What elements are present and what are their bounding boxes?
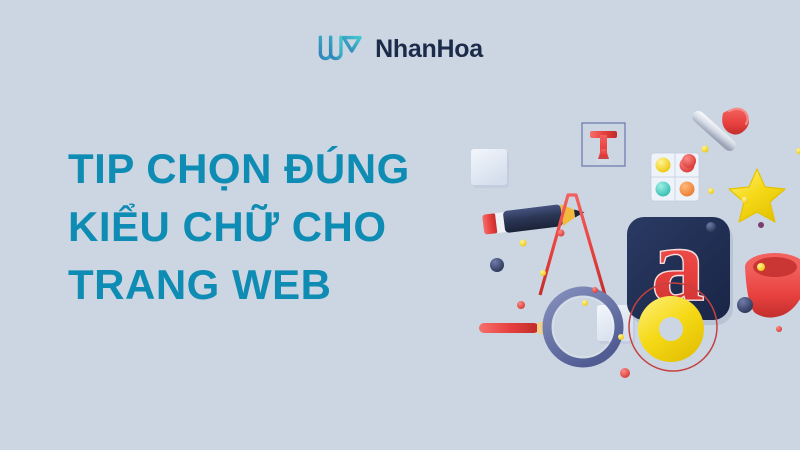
donut-icon [629,283,717,371]
promo-banner: NhanHoa TIP CHỌN ĐÚNG KIỂU CHỮ CHO TRANG… [0,0,800,450]
pencil-icon [482,201,586,235]
brand-header: NhanHoa [0,33,800,66]
eyedropper-icon [682,108,749,168]
headline-line-3: TRANG WEB [68,256,488,314]
card-square-icon [471,149,509,188]
cup-icon [745,253,800,318]
headline-line-1: TIP CHỌN ĐÚNG [68,140,488,198]
page-title: TIP CHỌN ĐÚNG KIỂU CHỮ CHO TRANG WEB [68,140,488,314]
headline-line-2: KIỂU CHỮ CHO [68,198,488,256]
brand-name: NhanHoa [375,37,483,62]
nhanhoa-w-logo-icon [317,33,363,66]
text-tool-t-icon [582,123,625,166]
typography-3d-illustration: a [455,105,800,380]
star-icon [729,169,785,222]
